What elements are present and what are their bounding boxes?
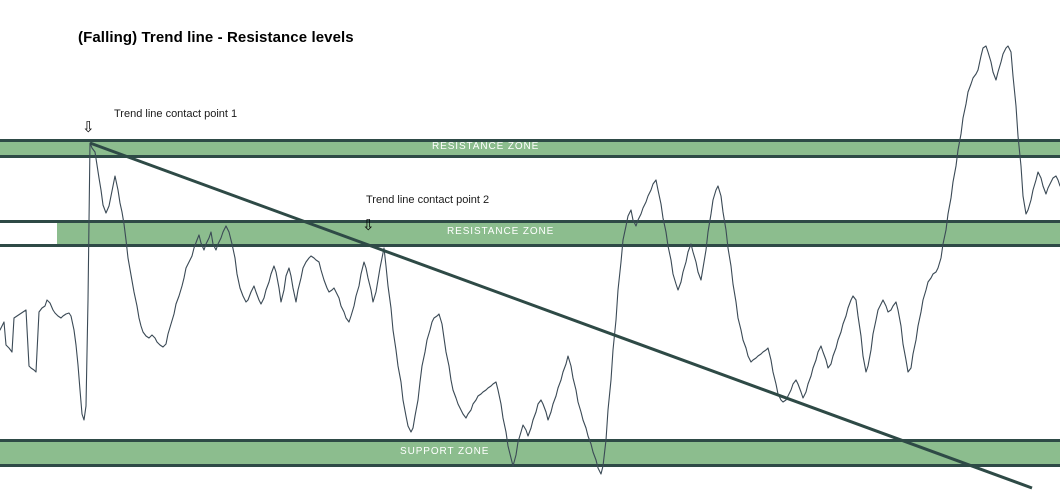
resistance-zone-upper-label: RESISTANCE ZONE (432, 141, 539, 152)
support-zone-bottom-border (0, 464, 1060, 467)
trading-chart-graphic (0, 0, 1060, 490)
resistance-zone-lower-bottom-border (0, 244, 1060, 247)
resistance-zone-lower-label: RESISTANCE ZONE (447, 226, 554, 237)
support-zone-fill (0, 440, 1060, 466)
contact-point-1-label: Trend line contact point 1 (114, 108, 237, 120)
contact-point-1-arrow-icon: ⇩ (82, 120, 95, 135)
resistance-zone-upper-bottom-border (0, 155, 1060, 158)
chart-canvas: (Falling) Trend line - Resistance levels… (0, 0, 1060, 490)
contact-point-2-arrow-icon: ⇩ (362, 218, 375, 233)
page-title: (Falling) Trend line - Resistance levels (78, 29, 354, 46)
support-zone-label: SUPPORT ZONE (400, 446, 489, 457)
support-zone-band (0, 439, 1060, 467)
contact-point-2-label: Trend line contact point 2 (366, 194, 489, 206)
resistance-zone-lower-top-border (0, 220, 1060, 223)
